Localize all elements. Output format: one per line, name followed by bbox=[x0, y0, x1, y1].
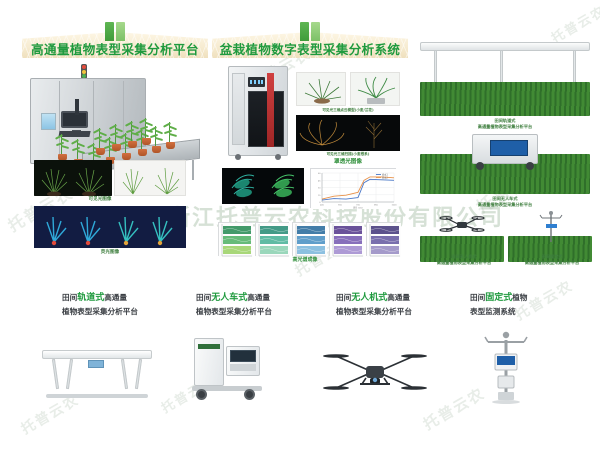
crop-field bbox=[420, 82, 590, 116]
reflectance-chart: 样本1样本26045301504005507008501000 波长 (nm) bbox=[310, 168, 396, 208]
gantry-leg bbox=[434, 50, 437, 86]
cabinet-door bbox=[248, 91, 284, 147]
plant bbox=[54, 132, 70, 154]
right-caption-3: 田间无人机式 高通量植物表型采集分析平台 bbox=[424, 254, 504, 266]
plant-pot bbox=[138, 149, 147, 156]
rail-base bbox=[46, 394, 148, 398]
plant-pot bbox=[122, 153, 131, 160]
banner-potted-plant: 盆栽植物数字表型采集分析系统 bbox=[212, 26, 408, 60]
cart-wheel bbox=[244, 389, 255, 400]
tower-illustration bbox=[478, 330, 534, 404]
ugv-display bbox=[490, 140, 528, 156]
plant-pot bbox=[112, 144, 121, 151]
hyperspectral-tile bbox=[366, 222, 400, 256]
poster-root: 浙江托普云农科技股份有限公司 托普云农 托普云农 托普云农 托普云农 托普云农 … bbox=[0, 0, 600, 450]
point-cloud-photo-1 bbox=[296, 72, 346, 106]
root-scan-photo bbox=[296, 115, 400, 151]
rail-leg bbox=[52, 359, 59, 389]
caption-line2: 表型监测系统 bbox=[470, 307, 516, 316]
machine-arm bbox=[75, 99, 79, 115]
caption-line2: 植物表型采集分析平台 bbox=[62, 307, 138, 316]
ugv-cart-device bbox=[182, 336, 272, 400]
watermark-10: 托普云农 bbox=[547, 0, 600, 46]
svg-text:1000: 1000 bbox=[391, 204, 397, 206]
plant-pot bbox=[128, 141, 137, 148]
cabinet-wheel bbox=[275, 154, 281, 160]
fluorescence-photo-strip bbox=[34, 206, 186, 248]
caption-fluorescence: 荧光图像 bbox=[70, 250, 150, 257]
drone-illustration bbox=[320, 346, 430, 398]
cabinet-side-panel bbox=[232, 73, 245, 145]
rail-leg bbox=[121, 359, 128, 389]
caption-line2: 植物表型采集分析平台 bbox=[196, 307, 272, 316]
caption-hyperspectral: 高光谱成像 bbox=[265, 257, 345, 264]
right-caption-4: 田间固定式 高通量植物表型采集分析平台 bbox=[512, 254, 592, 266]
bottom-caption-bottom-ugv: 田间无人车式高通量植物表型采集分析平台 bbox=[196, 292, 336, 318]
plant-pot bbox=[142, 138, 151, 145]
right-caption-2: 田间无人车式 高通量植物表型采集分析平台 bbox=[440, 196, 570, 208]
banner-title-2: 盆栽植物数字表型采集分析系统 bbox=[212, 39, 408, 58]
leaf-segmentation-photo bbox=[222, 168, 304, 204]
bottom-caption-bottom-rail: 田间轨道式高通量植物表型采集分析平台 bbox=[62, 292, 202, 318]
potted-plant-cabinet-illustration bbox=[228, 66, 290, 166]
field-gantry-illustration bbox=[420, 42, 590, 116]
gantry-leg bbox=[573, 50, 576, 86]
plant bbox=[138, 116, 154, 138]
caption-keyword: 无人车式 bbox=[211, 293, 247, 303]
rail-gantry-device bbox=[42, 350, 152, 398]
caption-point-cloud: 可见光三维点云模型(小麦/兰花) bbox=[300, 108, 396, 113]
plant bbox=[92, 126, 108, 148]
point-cloud-photo-2 bbox=[350, 72, 400, 106]
gantry-leg bbox=[500, 50, 503, 86]
cart-indicator bbox=[198, 344, 220, 349]
banner-title-1: 高通量植物表型采集分析平台 bbox=[22, 39, 208, 58]
caption-line2: 植物表型采集分析平台 bbox=[336, 307, 412, 316]
ugv-wheel bbox=[526, 162, 534, 170]
cart-keypad bbox=[230, 364, 256, 371]
structure-light-photo bbox=[114, 160, 186, 196]
svg-text:样本2: 样本2 bbox=[382, 176, 388, 180]
caption-suffix: 高通量 bbox=[387, 293, 410, 302]
hyperspectral-tile bbox=[255, 222, 289, 256]
banner-high-throughput: 高通量植物表型采集分析平台 bbox=[22, 26, 208, 60]
rail-sensor bbox=[88, 360, 104, 368]
cabinet-display bbox=[248, 77, 265, 87]
caption-suffix: 植物 bbox=[512, 293, 527, 302]
caption-visible-light: 可见光图像 bbox=[60, 197, 140, 204]
cabinet-body bbox=[228, 66, 288, 156]
bottom-caption-bottom-uav: 田间无人机式高通量植物表型采集分析平台 bbox=[336, 292, 476, 318]
hyperspectral-tile bbox=[218, 222, 252, 256]
caption-keyword: 固定式 bbox=[485, 293, 512, 303]
caption-prefix: 田间 bbox=[470, 293, 485, 302]
caption-prefix: 田间 bbox=[336, 293, 351, 302]
caption-ct-scan: 可见光三维扫描(小麦根系) bbox=[300, 152, 396, 157]
machine-window bbox=[41, 113, 56, 130]
caption-prefix: 田间 bbox=[196, 293, 211, 302]
gantry-beam bbox=[420, 42, 590, 51]
ugv-wheel bbox=[476, 162, 484, 170]
hyperspectral-tile bbox=[292, 222, 326, 256]
bottom-caption-bottom-fixed: 田间固定式植物表型监测系统 bbox=[470, 292, 600, 318]
rail-leg bbox=[135, 359, 142, 389]
plant bbox=[108, 122, 124, 144]
cabinet-wheel bbox=[235, 154, 241, 160]
caption-suffix: 高通量 bbox=[104, 293, 127, 302]
hyperspectral-tile bbox=[329, 222, 363, 256]
signal-tower-icon bbox=[81, 64, 87, 79]
rail-leg bbox=[66, 359, 73, 389]
visible-light-dark-photo bbox=[34, 160, 112, 196]
caption-suffix: 高通量 bbox=[247, 293, 270, 302]
plant-pot bbox=[166, 142, 175, 149]
cart-wheel bbox=[196, 389, 207, 400]
drone-icon bbox=[438, 212, 486, 234]
reflectance-chart-svg: 样本1样本26045301504005507008501000 波长 (nm) bbox=[311, 169, 397, 209]
caption-prefix: 田间 bbox=[62, 293, 77, 302]
plant bbox=[162, 120, 178, 142]
rail-beam bbox=[42, 350, 152, 359]
plant-pot bbox=[152, 146, 161, 153]
fixed-tower-device bbox=[478, 330, 534, 404]
weather-tower-icon bbox=[536, 210, 566, 244]
plant bbox=[70, 137, 86, 159]
cart-screen bbox=[230, 350, 256, 362]
plant-pot bbox=[96, 148, 105, 155]
caption-keyword: 轨道式 bbox=[77, 293, 104, 303]
field-ugv-illustration bbox=[420, 128, 590, 194]
caption-keyword: 无人机式 bbox=[351, 293, 387, 303]
cabinet-red-trim bbox=[267, 73, 274, 147]
uav-drone-device bbox=[320, 346, 430, 398]
caption-xray: 罩透光图像 bbox=[310, 158, 386, 166]
